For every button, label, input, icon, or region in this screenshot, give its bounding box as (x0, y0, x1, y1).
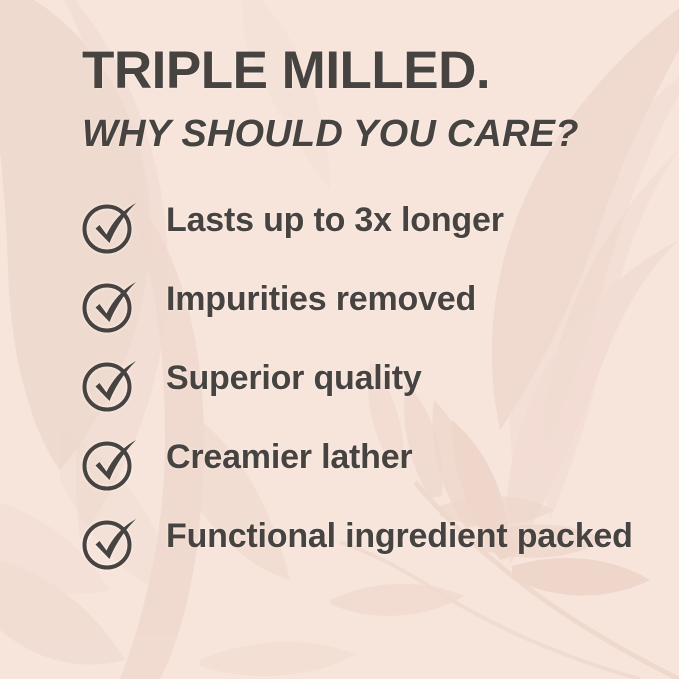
check-circle-icon (82, 357, 140, 413)
page-title: TRIPLE MILLED. (82, 44, 639, 97)
list-item-label: Impurities removed (166, 276, 476, 319)
list-item-label: Lasts up to 3x longer (166, 197, 504, 240)
promo-poster: TRIPLE MILLED. WHY SHOULD YOU CARE? Last… (0, 0, 679, 679)
check-circle-icon (82, 436, 140, 492)
check-circle-icon (82, 515, 140, 571)
list-item: Creamier lather (82, 434, 639, 492)
list-item: Lasts up to 3x longer (82, 197, 639, 255)
check-circle-icon (82, 199, 140, 255)
benefits-list: Lasts up to 3x longer Impurities removed… (82, 197, 639, 571)
list-item-label: Superior quality (166, 355, 422, 398)
page-subtitle: WHY SHOULD YOU CARE? (82, 115, 639, 153)
poster-content: TRIPLE MILLED. WHY SHOULD YOU CARE? Last… (0, 0, 679, 679)
list-item: Functional ingredient packed (82, 513, 639, 571)
list-item: Superior quality (82, 355, 639, 413)
list-item-label: Functional ingredient packed (166, 513, 633, 556)
check-circle-icon (82, 278, 140, 334)
list-item: Impurities removed (82, 276, 639, 334)
list-item-label: Creamier lather (166, 434, 412, 477)
